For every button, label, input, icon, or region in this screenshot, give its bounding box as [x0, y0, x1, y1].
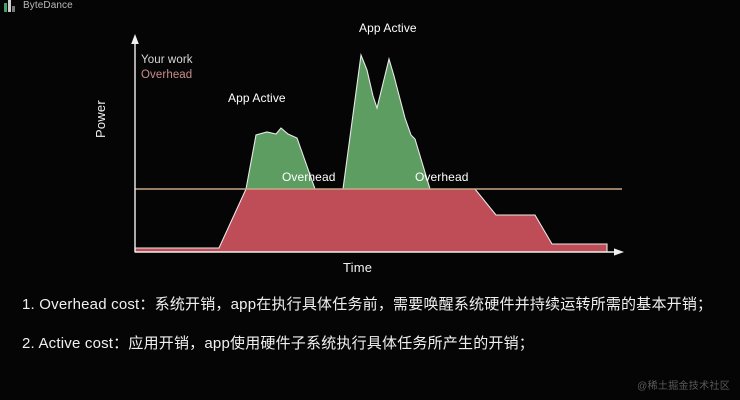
legend-item-overhead: Overhead	[141, 69, 192, 81]
app-active-burst-2	[343, 55, 430, 189]
annotation-overhead-1: Overhead	[282, 170, 336, 184]
annotation-app-active-1: App Active	[228, 91, 286, 105]
overhead-area	[135, 189, 607, 252]
annotation-overhead-2: Overhead	[415, 170, 469, 184]
x-axis-arrow	[614, 248, 624, 255]
note-active-cost: 2. Active cost：应用开销，app使用硬件子系统执行具体任务所产生的…	[22, 331, 722, 356]
note-overhead-cost: 1. Overhead cost：系统开销，app在执行具体任务前，需要唤醒系统…	[22, 292, 722, 317]
annotation-app-active-2: App Active	[359, 21, 417, 35]
explanatory-notes: 1. Overhead cost：系统开销，app在执行具体任务前，需要唤醒系统…	[22, 292, 722, 370]
site-watermark: @稀土掘金技术社区	[637, 377, 730, 392]
bytedance-bars-icon	[4, 0, 17, 14]
y-axis-title: Power	[93, 100, 108, 138]
power-vs-time-chart: Power Time Your work Overhead App Active…	[95, 20, 640, 285]
legend-item-your-work: Your work	[141, 54, 193, 66]
brand-bar: ByteDance	[0, 0, 740, 14]
brand-name: ByteDance	[23, 0, 73, 12]
y-axis-arrow	[131, 34, 139, 44]
x-axis-title: Time	[343, 260, 372, 275]
